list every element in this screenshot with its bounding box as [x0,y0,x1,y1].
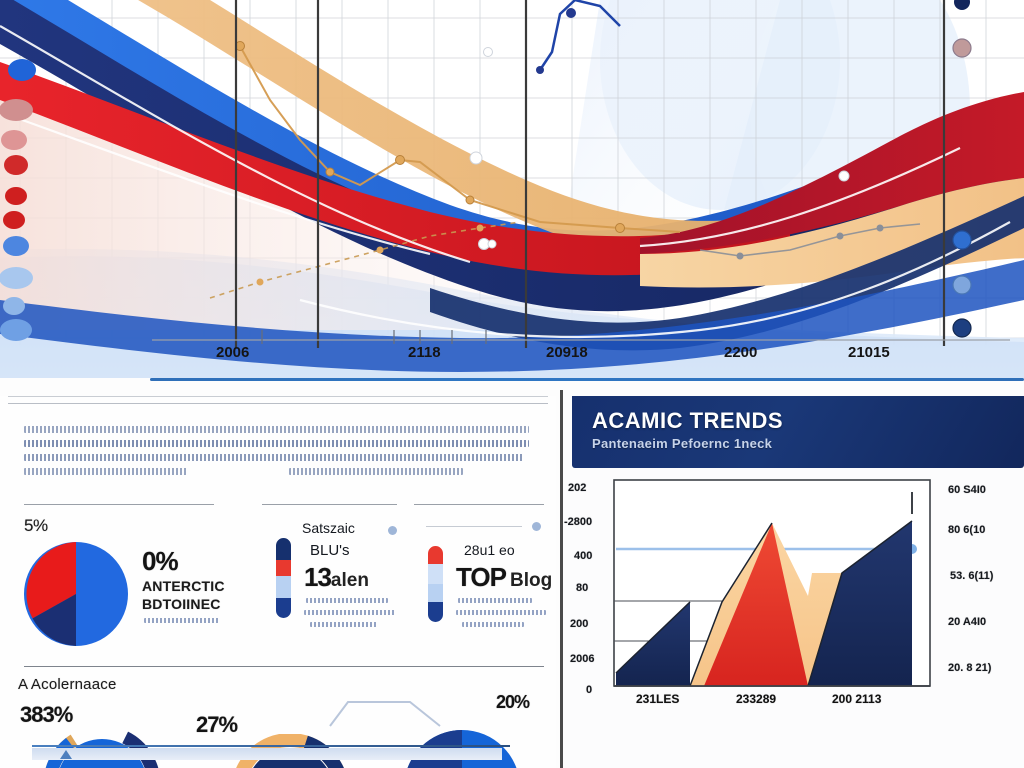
kpi-sep-3 [414,504,544,505]
stat-card-subtitle: BLU's [310,542,350,559]
stat-dot-icon [388,526,397,535]
rr-label-1: 80 6(10 [948,524,985,536]
ry-label-1: -2800 [564,516,592,528]
kpi-sep-2 [262,504,397,505]
body-text-line-1 [24,426,529,433]
blog-dot-icon [532,522,541,531]
right-panel-title: ACAMIC TRENDS [592,408,783,434]
right-area-plot[interactable] [612,478,932,708]
hero-chart-svg: 2006 2118 20918 2200 21015 [0,0,1024,378]
pie-caption-2: BDTOIINEC [142,596,221,612]
hero-xtick-4: 21015 [848,344,890,361]
kpi-sep-1 [24,504,214,505]
right-panel-header: ACAMIC TRENDS Pantenaeim Pefoernc 1neck [572,396,1024,468]
left-panel-rule-top [8,396,548,397]
hero-xtick-3: 2200 [724,344,757,361]
donut-row-rule [24,666,544,667]
ry-label-4: 200 [570,618,588,630]
kpi-card-blog[interactable]: 28u1 eo TOPBlog [414,516,556,666]
ry-label-2: 400 [574,550,592,562]
right-area-chart[interactable]: 202 -2800 400 80 200 2006 0 [570,478,1020,728]
footer-rule [32,745,510,747]
hero-xtick-0: 2006 [216,344,249,361]
kpi-card-stat[interactable]: Satszaic BLU's 13alen [262,516,412,666]
rr-label-3: 20 A4I0 [948,616,986,628]
blog-pill-gauge[interactable] [428,546,443,622]
body-text-line-3 [24,454,524,461]
body-text-line-2 [24,440,529,447]
kpi-card-pie[interactable]: 5% 0% ANTERCTIC BDTOIINEC [14,516,249,666]
stat-note-1 [306,598,388,603]
hero-divider-rule [150,378,1024,381]
pie-caption-3 [144,618,220,623]
left-panel-body-text [24,426,534,486]
pie-corner-value: 5% [24,516,48,536]
blog-note-1 [458,598,532,603]
dashboard-root: 2006 2118 20918 2200 21015 5% [0,0,1024,768]
body-text-line-4b [289,468,462,475]
hero-xtick-1: 2118 [408,344,441,361]
stat-note-3 [310,622,378,627]
stat-big-value: 13 [304,562,331,592]
rx-label-2: 200 2113 [832,692,881,706]
rr-label-4: 20. 8 21) [948,662,991,674]
hero-trend-chart[interactable]: 2006 2118 20918 2200 21015 [0,0,1024,378]
left-report-panel: 5% 0% ANTERCTIC BDTOIINEC Satszaic BLU's [0,396,556,768]
pie-big-value: 0% [142,546,178,577]
rr-label-2: 53. 6(11) [950,570,993,582]
blog-big-value: TOP [456,562,506,592]
stat-big-suffix: alen [331,570,369,591]
ry-label-3: 80 [576,582,588,594]
right-report-panel: ACAMIC TRENDS Pantenaeim Pefoernc 1neck … [560,390,1024,768]
rr-label-0: 60 S4I0 [948,484,986,496]
donut-chart-1[interactable] [44,726,160,768]
right-panel-border [560,390,563,768]
footer-triangle-icon [60,750,72,759]
ry-label-0: 202 [568,482,586,494]
footer-bar [32,748,502,760]
stat-note-2 [304,610,396,615]
blog-card-title: 28u1 eo [464,542,515,558]
rx-label-1: 233289 [736,692,776,706]
donut-chart-3[interactable] [400,726,524,768]
left-panel-rule-top2 [8,403,548,404]
blog-note-2 [456,610,546,615]
blog-note-3 [462,622,524,627]
right-panel-subtitle: Pantenaeim Pefoernc 1neck [592,436,772,451]
ry-label-6: 0 [586,684,592,696]
kpi-card-row: 5% 0% ANTERCTIC BDTOIINEC Satszaic BLU's [0,504,556,674]
body-text-line-4a [24,468,187,475]
pie-chart[interactable] [20,538,132,650]
hero-xtick-2: 20918 [546,344,588,361]
stat-pill-gauge[interactable] [276,538,291,618]
ry-label-5: 2006 [570,653,594,665]
rx-label-0: 231LES [636,692,679,706]
pie-caption-1: ANTERCTIC [142,578,225,594]
blog-big-suffix: Blog [510,570,552,591]
stat-card-title: Satszaic [302,520,355,536]
blog-card-rule [426,526,522,527]
